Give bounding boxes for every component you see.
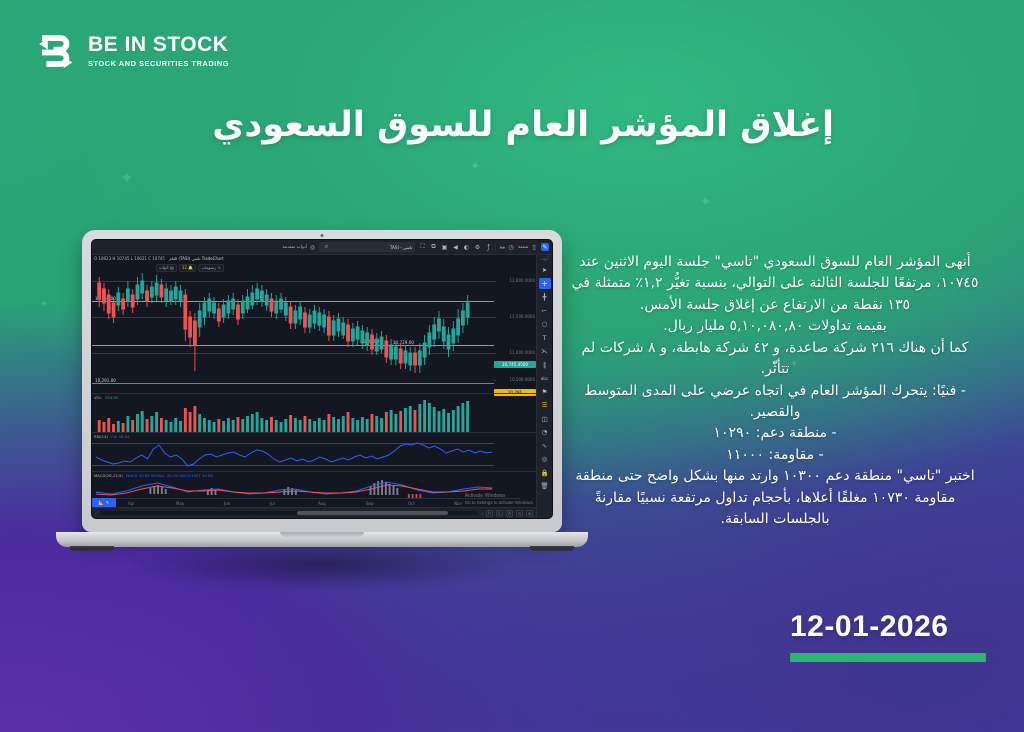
flag-icon[interactable]: ⚑ [539, 386, 551, 397]
axis-label: 12,000.0000 [510, 278, 535, 283]
chip-drawings[interactable]: ∿ رسومات [198, 264, 223, 272]
measure-icon[interactable]: ☰ [539, 400, 551, 411]
legend-ohlc: O 10623 H 10745 L 10621 C 10745 [94, 256, 165, 261]
chart-toolbar: ✎ ▯ شمعة ◷ يوم ƒ ⚙ ◐ ◀ [92, 240, 552, 255]
trend-line-icon[interactable]: ╋ [539, 292, 551, 303]
replay-icon[interactable]: ◀ [451, 243, 459, 251]
fullscreen-icon[interactable]: ⛶ [418, 243, 426, 251]
brand-logo: BE IN STOCK STOCK AND SECURITIES TRADING [32, 28, 229, 74]
rsi-line [92, 433, 494, 471]
body-paragraph: كما أن هناك ٢١٦ شركة صاعدة، و ٤٢ شركة ها… [570, 338, 980, 381]
shape-icon[interactable]: ○ [539, 319, 551, 330]
sparkle-decoration: ✦ [700, 196, 711, 209]
legend-source: TradeChart [202, 256, 224, 261]
drawing-toolbar-label: أدوات [541, 257, 549, 261]
chip-alerts[interactable]: 🔔 12 [179, 264, 197, 272]
clock-icon: ◷ [507, 243, 515, 251]
brand-tagline: STOCK AND SECURITIES TRADING [88, 59, 229, 68]
time-label: Nov [454, 501, 462, 506]
text-icon[interactable]: T [539, 332, 551, 343]
time-label: Jun [224, 501, 230, 506]
ruler-tool-button[interactable]: 📐 ✎ [92, 498, 116, 507]
chart-scrollbar[interactable] [100, 511, 479, 515]
chart-layout-icon[interactable]: h [486, 510, 493, 517]
timeframe-next-icon[interactable]: › [481, 511, 483, 516]
gann-icon[interactable]: ◫ [539, 413, 551, 424]
last-price-tag: 10,745.4500 [494, 361, 536, 368]
laptop-foot-right [530, 546, 574, 551]
axis-label: 11,500.0000 [510, 314, 535, 319]
sparkle-decoration: ✦ [120, 170, 133, 186]
zoom-out-icon[interactable]: ⊖ [516, 510, 523, 517]
body-paragraph: اختبر "تاسي" منطقة دعم ١٠٣٠٠ وارتد منها … [570, 466, 980, 530]
body-paragraph-resistance: - مقاومة: ١١٠٠٠ [570, 445, 980, 466]
cursor-icon[interactable]: ➤ [539, 265, 551, 276]
chart-scrollbar-thumb[interactable] [297, 511, 449, 515]
brand-name: BE IN STOCK [88, 34, 229, 55]
pen-icon: ✎ [106, 500, 109, 505]
snapshot-icon[interactable]: ▣ [440, 243, 448, 251]
be-in-stock-arrows-logo-icon [32, 28, 78, 74]
date-block: 12-01-2026 [790, 610, 986, 662]
candle-icon: ▯ [530, 243, 538, 251]
layout-menu[interactable]: ◎ أدوات متقدمة [283, 243, 317, 251]
price-axis[interactable]: 12,000.0000 11,500.0000 11,000.0000 10,5… [494, 255, 536, 393]
laptop-base-notch [280, 532, 364, 537]
price-pane[interactable]: 11,752.00 11,011.00 10,729.00 10,291.00 [92, 255, 494, 393]
bell-icon: 🔔 [188, 265, 193, 271]
timeframe-prev-icon[interactable]: ‹ [95, 511, 97, 516]
time-label: Apr [128, 501, 135, 506]
indicators-icon[interactable]: ƒ [484, 243, 492, 251]
volume-bars [92, 394, 494, 432]
legend-chips: ∿ رسومات 🔔 12 ▤ أدوات [94, 264, 224, 272]
lock-icon[interactable]: 🔒 [539, 467, 551, 478]
symbol-search-input[interactable]: تاسي - TASI ⌕ [319, 242, 415, 252]
laptop-foot-left [70, 546, 114, 551]
wave-icon: ∿ [217, 265, 220, 271]
poster-canvas: ✦ ✦ ✦ ✦ ✦ ✦ BE IN STOCK STOCK AND SECURI… [0, 0, 1024, 732]
tradingview-app: ✎ ▯ شمعة ◷ يوم ƒ ⚙ ◐ ◀ [92, 240, 552, 518]
search-icon: ⌕ [322, 243, 330, 251]
time-label: Jul [270, 501, 275, 506]
body-paragraph: بقيمة تداولات ٥,١٠,٠٨٠,٨٠ مليار ريال. [570, 316, 980, 337]
zoom-in-icon[interactable]: ⊕ [526, 510, 533, 517]
magnet-icon[interactable]: ◔ [539, 427, 551, 438]
laptop-lid: ✎ ▯ شمعة ◷ يوم ƒ ⚙ ◐ ◀ [82, 230, 562, 532]
brand-logo-text: BE IN STOCK STOCK AND SECURITIES TRADING [88, 34, 229, 68]
sparkle-decoration: ✦ [470, 160, 480, 172]
hide-icon[interactable]: ◎ [539, 454, 551, 465]
laptop-base [56, 532, 588, 547]
legend-symbol: تاسي (TASI) العام [169, 256, 200, 261]
time-label: Oct [408, 501, 415, 506]
search-value: تاسي - TASI [390, 245, 413, 250]
body-paragraph: أنهى المؤشر العام للسوق السعودي "تاسي" ج… [570, 252, 980, 316]
axis-label: 10,500.0000 [510, 377, 535, 382]
article-body: أنهى المؤشر العام للسوق السعودي "تاسي" ج… [570, 252, 980, 530]
axis-label: 11,000.0000 [510, 350, 535, 355]
fib-icon[interactable]: ∥ [539, 359, 551, 370]
rsi-pane[interactable]: RSI(14) RSI 58.64 [92, 433, 494, 471]
candlestick-series [92, 255, 494, 393]
abc-icon[interactable]: abc [539, 373, 551, 384]
webcam-icon [321, 234, 324, 237]
laptop-mockup: ✎ ▯ شمعة ◷ يوم ƒ ⚙ ◐ ◀ [82, 230, 562, 547]
body-paragraph: - فنيًا: يتحرك المؤشر العام في اتجاه عرض… [570, 381, 980, 424]
page-title: إغلاق المؤشر العام للسوق السعودي [212, 104, 834, 146]
drawing-toolbar[interactable]: أدوات ➤ ✛ ╋ ⌐ ○ T ⋋ ∥ abc ⚑ ☰ ◫ ◔ [536, 255, 552, 518]
crosshair-icon[interactable]: ✛ [539, 278, 551, 289]
layout-icon: ◎ [308, 243, 316, 251]
chart-bottom-bar[interactable]: ‹ › h L A ⊖ ⊕ [92, 507, 536, 518]
date-underline-bar [790, 653, 986, 662]
publish-date: 12-01-2026 [790, 610, 986, 644]
sparkle-decoration: ✦ [40, 300, 48, 310]
pattern-icon[interactable]: ⋋ [539, 346, 551, 357]
horizontal-line-icon[interactable]: ⌐ [539, 305, 551, 316]
toolbar-candle-type[interactable]: ▯ شمعة [518, 243, 538, 251]
body-paragraph-support: - منطقة دعم: ١٠٢٩٠ [570, 423, 980, 444]
compare-icon[interactable]: ⧉ [429, 243, 437, 251]
chip-tools[interactable]: ▤ أدوات [156, 264, 177, 272]
log-scale-icon[interactable]: L [496, 510, 503, 517]
layers-icon: ▤ [170, 265, 174, 271]
alert-icon[interactable]: ◐ [462, 243, 470, 251]
trash-icon[interactable]: 🗑 [539, 481, 551, 492]
chart-legend: TradeChart تاسي (TASI) العام O 10623 H 1… [94, 256, 224, 272]
axis-tick [493, 380, 496, 381]
volume-pane[interactable]: VOL 254.90 [92, 394, 494, 432]
toolbar-interval[interactable]: ◷ يوم [499, 243, 515, 251]
time-label: May [176, 501, 184, 506]
settings-icon[interactable]: ⚙ [473, 243, 481, 251]
time-axis[interactable]: Apr May Jun Jul Aug Sep Oct Nov [92, 498, 520, 507]
pen-icon[interactable]: ✎ [541, 243, 549, 251]
axis-tick [493, 353, 496, 354]
axis-tick [493, 317, 496, 318]
time-label: Sep [366, 501, 374, 506]
time-label: Aug [318, 501, 326, 506]
chart-area[interactable]: TradeChart تاسي (TASI) العام O 10623 H 1… [92, 255, 536, 518]
brush-icon[interactable]: ∿ [539, 440, 551, 451]
auto-fit-icon[interactable]: A [506, 510, 513, 517]
toolbar-divider [495, 243, 496, 252]
ruler-icon: 📐 [99, 500, 104, 505]
laptop-screen: ✎ ▯ شمعة ◷ يوم ƒ ⚙ ◐ ◀ [91, 239, 553, 519]
axis-tick [493, 281, 496, 282]
